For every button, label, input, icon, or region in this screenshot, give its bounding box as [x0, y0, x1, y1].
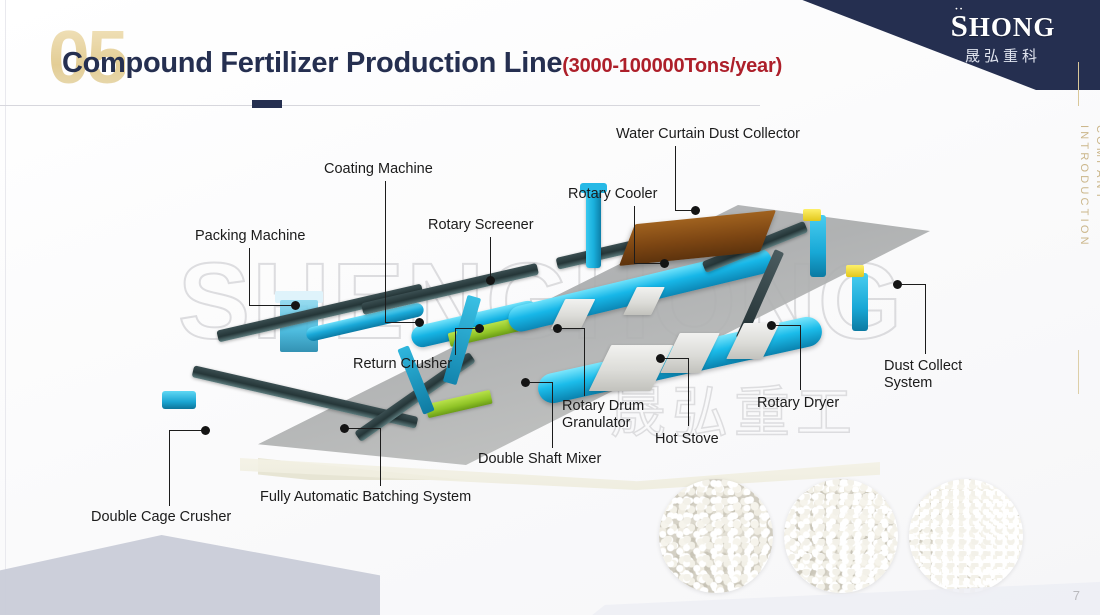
- callout-rotary-cooler: Rotary Cooler: [568, 186, 657, 203]
- dot-rotary-dryer: [767, 321, 776, 330]
- granule-texture-3: [909, 479, 1023, 593]
- callout-water-curtain-dust-collector: Water Curtain Dust Collector: [616, 126, 800, 143]
- header-accent-dash: [252, 100, 282, 108]
- callout-fully-automatic-batching-system: Fully Automatic Batching System: [260, 489, 471, 506]
- granule-photo-1: [659, 479, 773, 593]
- leader-dust-collect-system-h: [902, 284, 926, 285]
- diagram-double-cage-crusher: [162, 391, 196, 409]
- page-title-capacity: (3000-100000Tons/year): [562, 55, 782, 77]
- leader-rotary-drum-granulator: [584, 328, 585, 396]
- leader-packing-machine-h: [249, 305, 295, 306]
- callout-rotary-dryer: Rotary Dryer: [757, 395, 839, 412]
- dot-rotary-cooler: [660, 259, 669, 268]
- callout-return-crusher: Return Crusher: [353, 356, 452, 373]
- dot-hot-stove: [656, 354, 665, 363]
- logo-chinese-name: 晟弘重科: [928, 45, 1078, 66]
- leader-double-cage-crusher-h: [169, 430, 205, 431]
- dot-double-shaft-mixer: [521, 378, 530, 387]
- granule-texture-1: [659, 479, 773, 593]
- leader-double-cage-crusher: [169, 430, 170, 506]
- diagram-dust-collect-system: [852, 273, 868, 331]
- dot-packing-machine: [291, 301, 300, 310]
- leader-double-shaft-mixer: [552, 382, 553, 448]
- dot-return-crusher: [475, 324, 484, 333]
- callout-double-shaft-mixer: Double Shaft Mixer: [478, 451, 601, 468]
- logo-brand: HONG: [969, 12, 1056, 42]
- leader-coating-machine: [385, 181, 386, 323]
- slide-canvas: ··SHONG 晟弘重科 05 Compound Fertilizer Prod…: [0, 0, 1100, 615]
- leader-hot-stove-h: [665, 358, 689, 359]
- logo-dots: ··: [955, 4, 964, 15]
- logo-wordmark: ··SHONG: [928, 10, 1078, 41]
- callout-rotary-drum-granulator: Rotary Drum Granulator: [562, 398, 644, 432]
- side-rail-line-1: COMPANY: [1092, 125, 1100, 248]
- diagram-dust-fan-1: [803, 209, 821, 221]
- leader-dust-collect-system: [925, 284, 926, 354]
- dot-coating-machine: [415, 318, 424, 327]
- leader-rotary-cooler: [634, 206, 635, 264]
- callout-hot-stove: Hot Stove: [655, 431, 719, 448]
- diagram-dust-tower-1: [810, 215, 826, 277]
- leader-rotary-dryer-h: [776, 325, 801, 326]
- dot-rotary-screener: [486, 276, 495, 285]
- callout-coating-machine: Coating Machine: [324, 161, 433, 178]
- dot-rotary-drum-granulator: [553, 324, 562, 333]
- left-edge-rule: [5, 0, 6, 615]
- leader-return-crusher: [455, 328, 456, 355]
- leader-water-curtain: [675, 146, 676, 211]
- leader-double-shaft-mixer-h: [530, 382, 553, 383]
- leader-rotary-dryer: [800, 325, 801, 390]
- page-number: 7: [1073, 588, 1080, 603]
- callout-dust-collect-system: Dust Collect System: [884, 358, 962, 392]
- dot-double-cage-crusher: [201, 426, 210, 435]
- granule-photo-3: [909, 479, 1023, 593]
- dot-dust-collect-system: [893, 280, 902, 289]
- leader-rotary-drum-granulator-h: [562, 328, 585, 329]
- diagram-dust-fan-2: [846, 265, 864, 277]
- leader-packing-machine: [249, 248, 250, 306]
- side-rail-line-top: [1078, 62, 1079, 106]
- leader-rotary-screener: [490, 237, 491, 280]
- granule-photo-2: [784, 479, 898, 593]
- dot-water-curtain: [691, 206, 700, 215]
- brand-logo[interactable]: ··SHONG 晟弘重科: [928, 10, 1078, 66]
- page-title-main: Compound Fertilizer Production Line: [62, 47, 562, 79]
- leader-coating-machine-h: [385, 322, 419, 323]
- header-divider: [0, 105, 760, 106]
- page-title: Compound Fertilizer Production Line(3000…: [62, 47, 782, 80]
- callout-rotary-screener: Rotary Screener: [428, 217, 534, 234]
- dot-batching-system: [340, 424, 349, 433]
- callout-packing-machine: Packing Machine: [195, 228, 305, 245]
- leader-batching-system-h: [348, 428, 381, 429]
- granule-texture-2: [784, 479, 898, 593]
- side-rail-label: COMPANY INTRODUCTION: [1052, 125, 1100, 248]
- leader-batching-system: [380, 428, 381, 486]
- side-rail-line-2: INTRODUCTION: [1076, 125, 1092, 248]
- side-rail-line-bottom: [1078, 350, 1079, 394]
- callout-double-cage-crusher: Double Cage Crusher: [91, 509, 231, 526]
- leader-hot-stove: [688, 358, 689, 426]
